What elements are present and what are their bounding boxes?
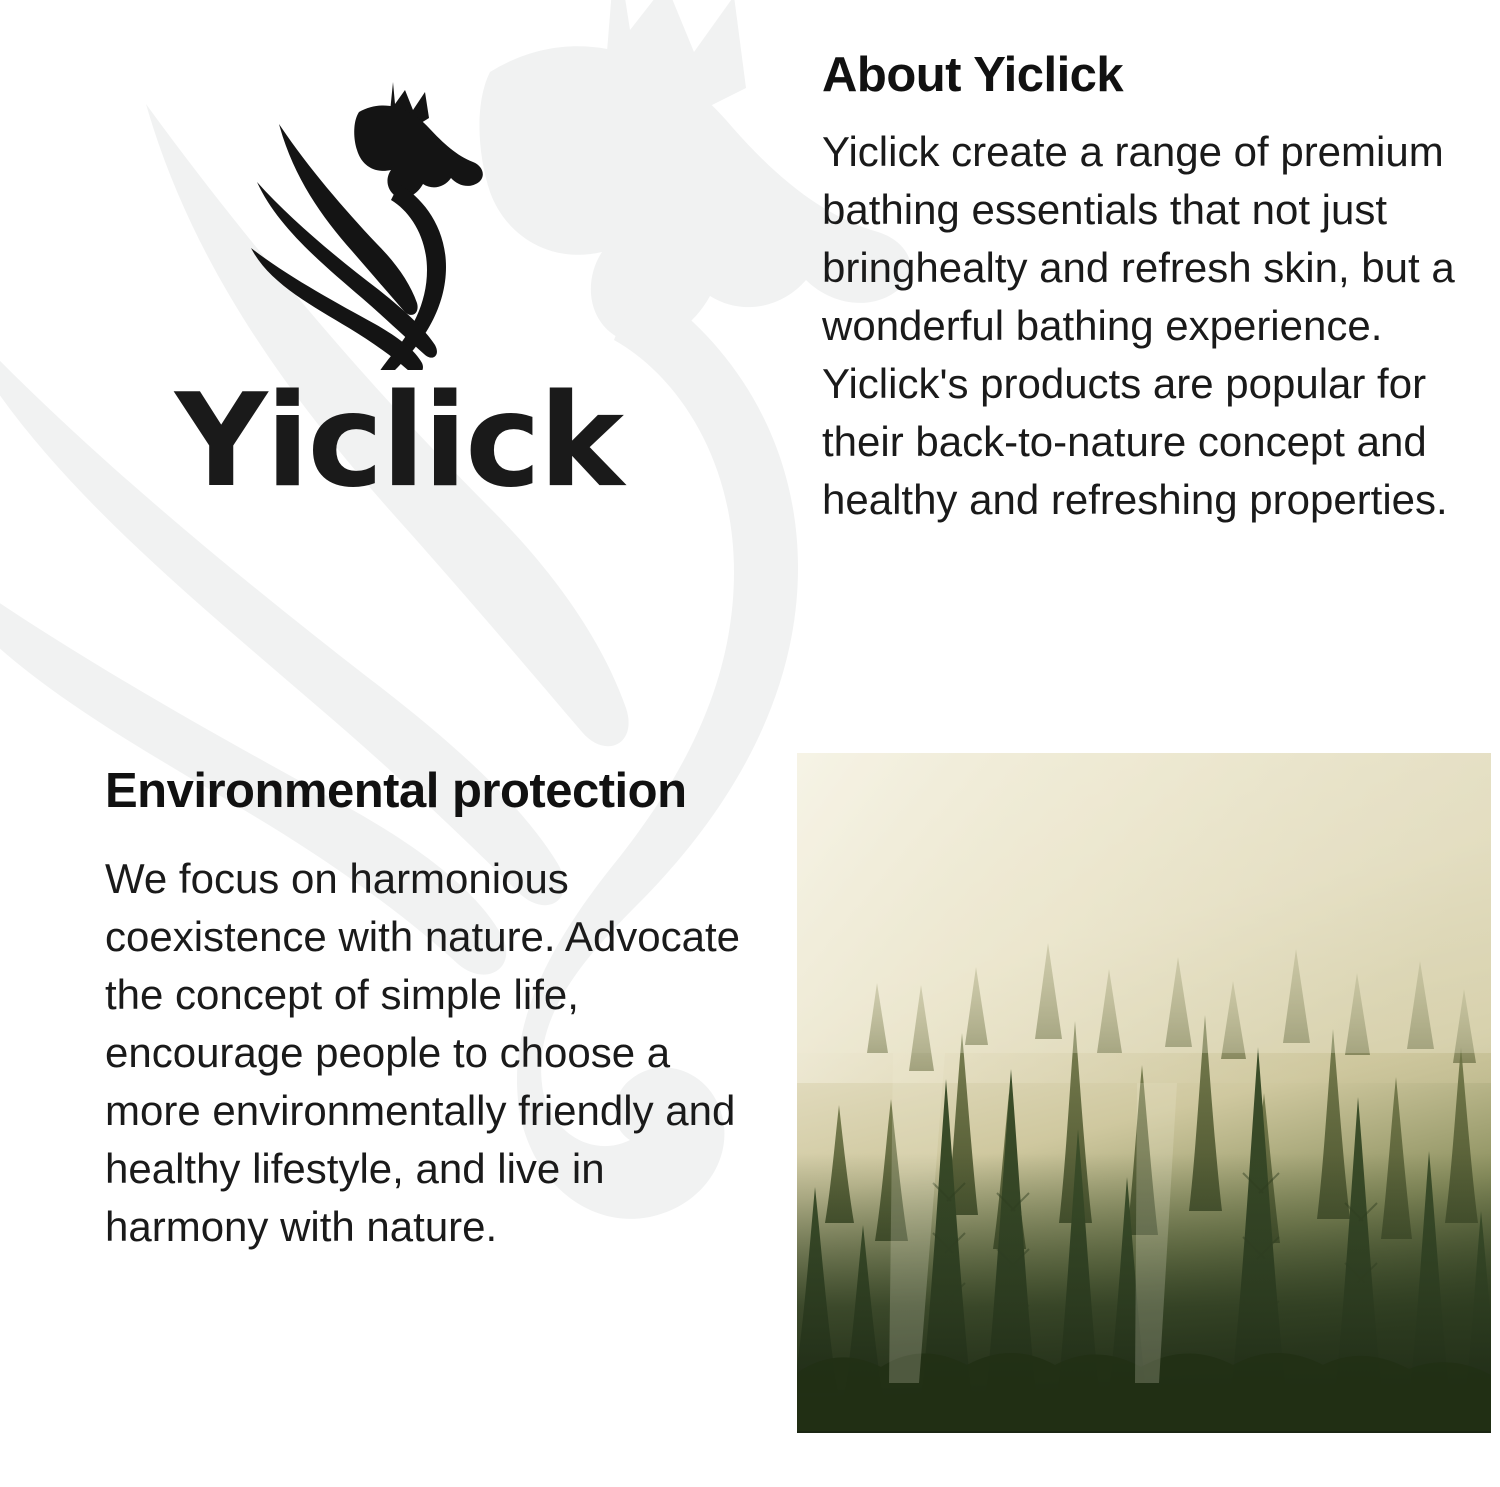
about-body: Yiclick create a range of premium bathin…: [822, 123, 1494, 529]
brand-block: Yiclick: [0, 70, 797, 506]
about-title: About Yiclick: [822, 50, 1494, 101]
about-section: About Yiclick Yiclick create a range of …: [822, 50, 1494, 529]
brand-wordmark: Yiclick: [0, 378, 797, 506]
environmental-protection-title: Environmental protection: [105, 762, 745, 820]
about-body-text: Yiclick create a range of premium bathin…: [822, 123, 1494, 529]
crowned-seahorse-logo-icon: [249, 70, 549, 370]
forest-photo: [797, 753, 1491, 1433]
about-brand-page: Yiclick About Yiclick Yiclick create a r…: [0, 0, 1500, 1487]
environmental-protection-body: We focus on harmonious coexistence with …: [105, 850, 745, 1256]
environmental-protection-section: Environmental protection We focus on har…: [105, 762, 745, 1256]
